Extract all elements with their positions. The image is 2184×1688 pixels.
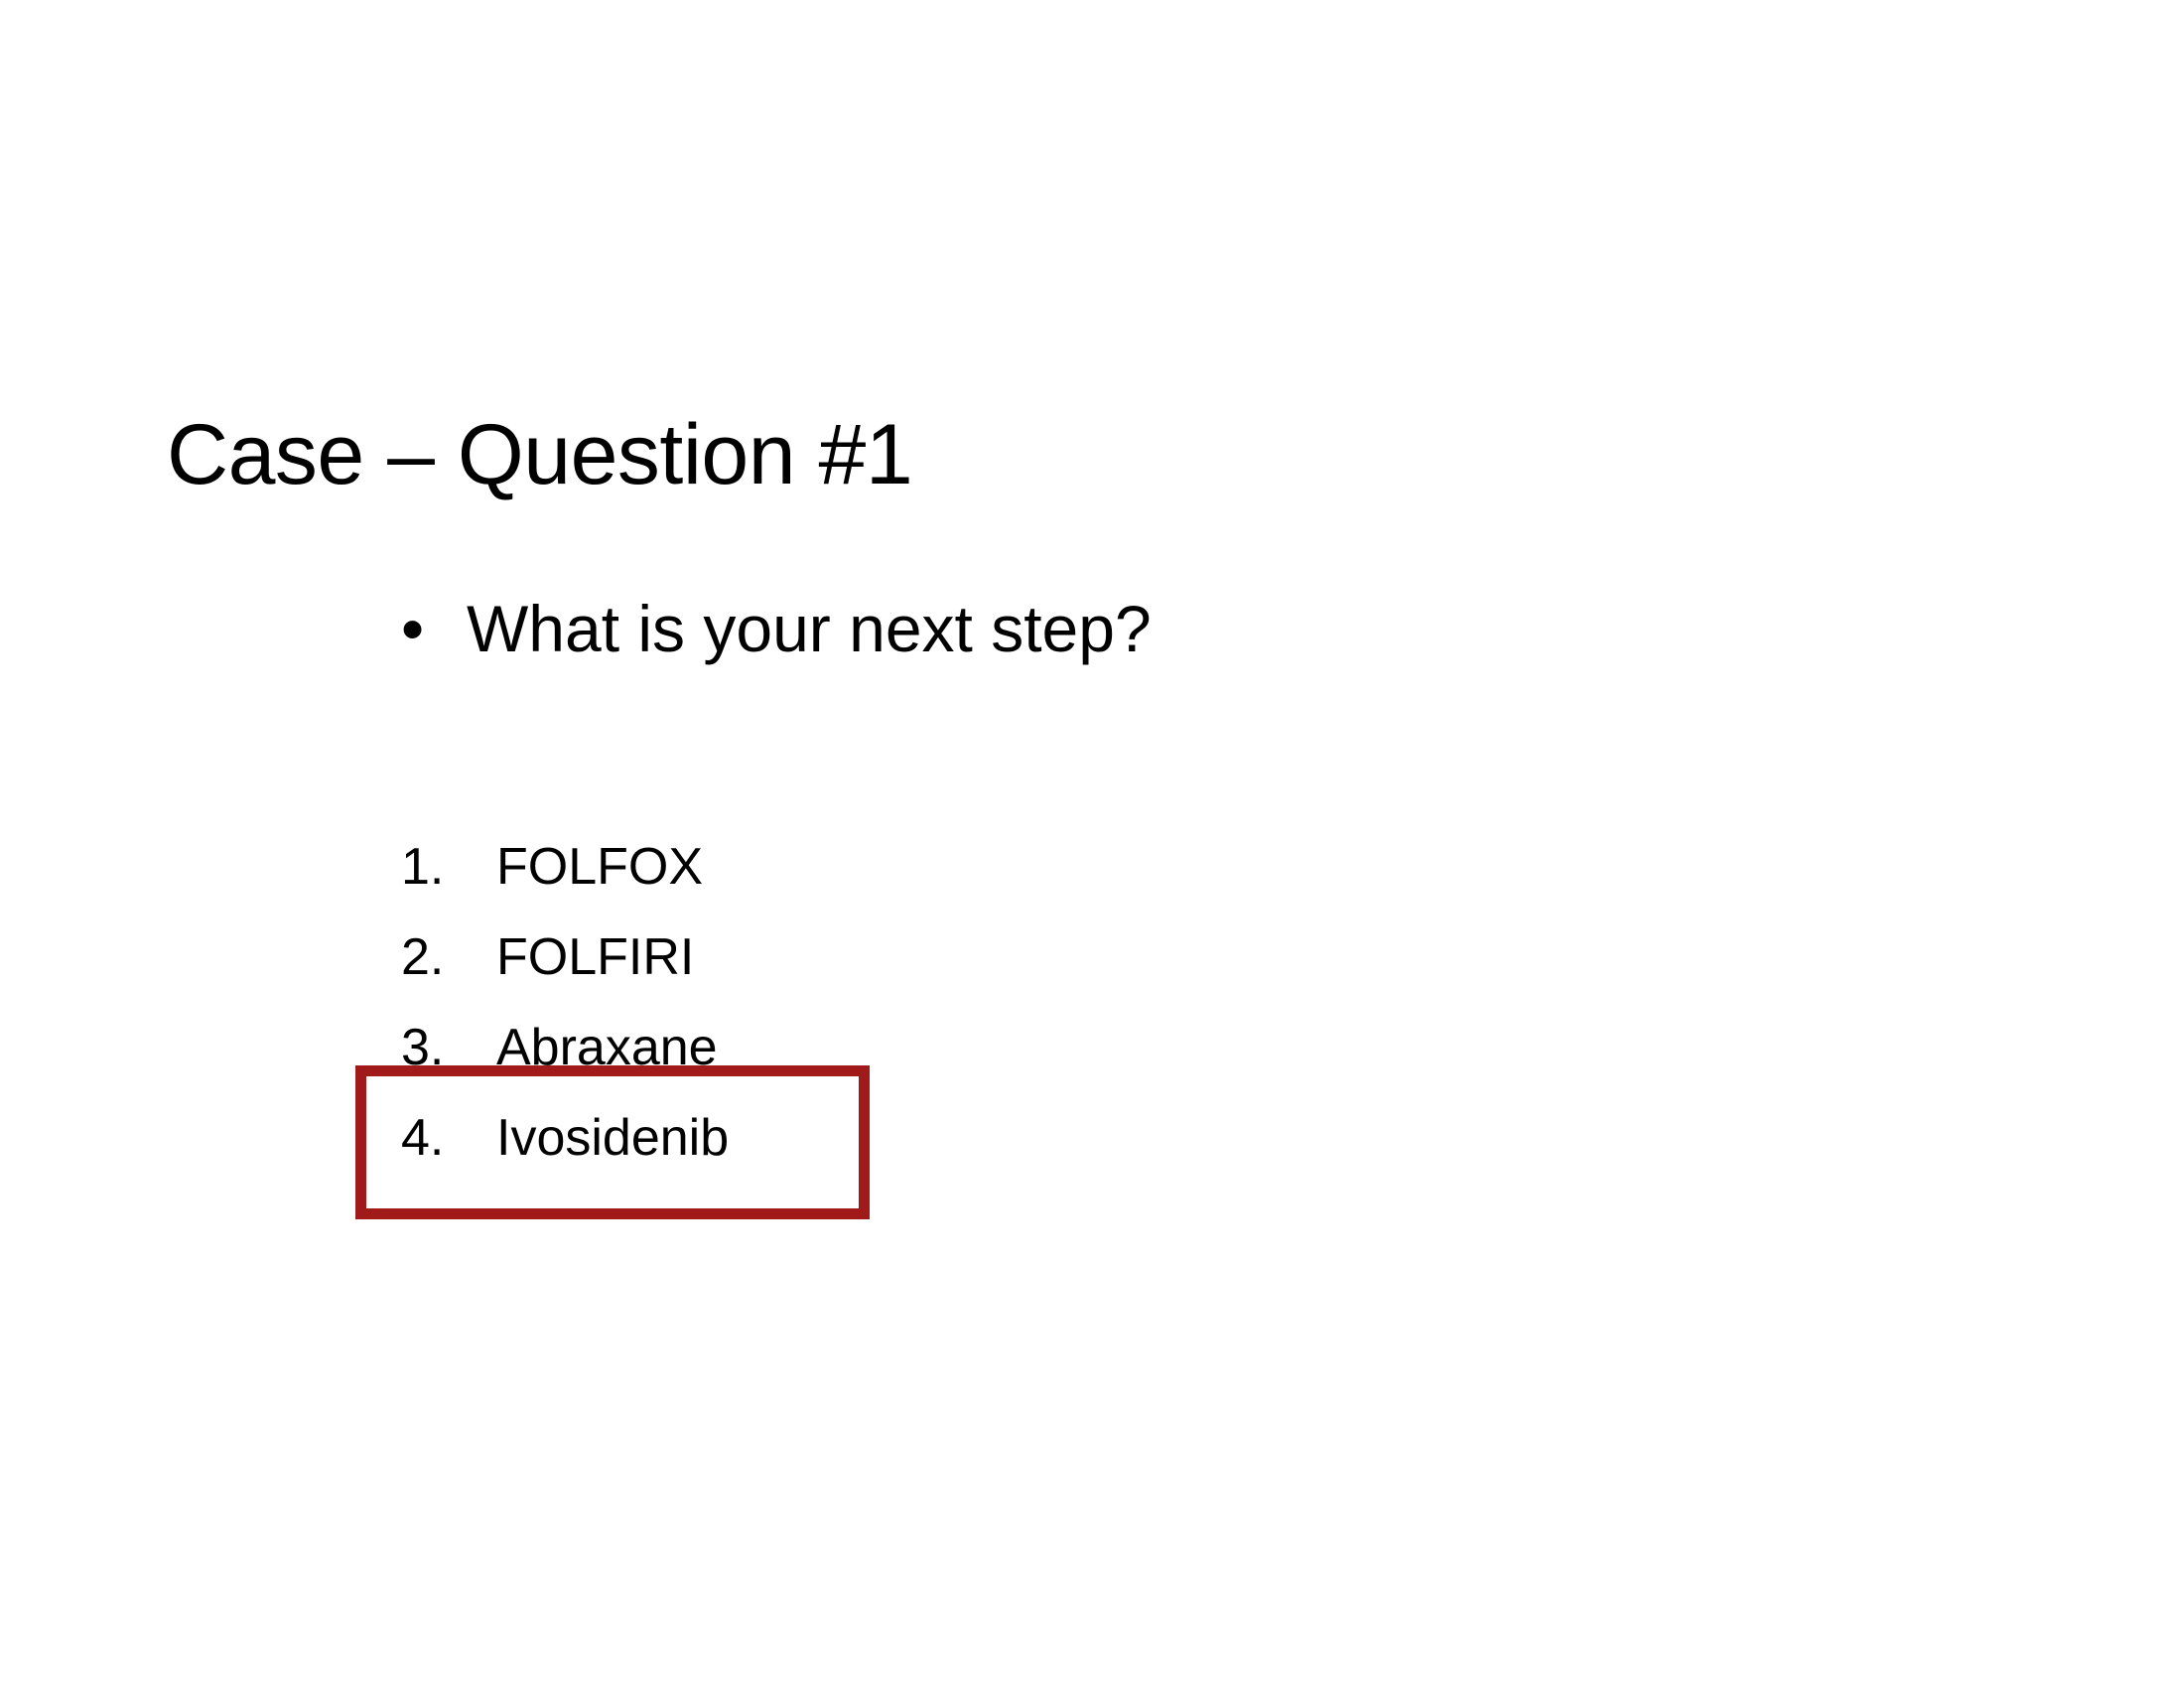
list-item-label: FOLFOX bbox=[496, 822, 703, 913]
bullet-item: • What is your next step? bbox=[401, 596, 1152, 661]
list-item-number: 2. bbox=[401, 913, 496, 1003]
list-item-label: FOLFIRI bbox=[496, 913, 694, 1003]
bullet-point-icon: • bbox=[401, 596, 467, 661]
page-title: Case – Question #1 bbox=[167, 410, 912, 499]
bullet-item-label: What is your next step? bbox=[467, 596, 1152, 661]
list-item-label: Ivosidenib bbox=[496, 1093, 729, 1184]
list-item-number: 3. bbox=[401, 1003, 496, 1093]
list-item[interactable]: 3. Abraxane bbox=[401, 1003, 1096, 1093]
list-item[interactable]: 4. Ivosidenib bbox=[401, 1093, 1096, 1184]
presentation-slide: Case – Question #1 • What is your next s… bbox=[0, 0, 2184, 1688]
list-item-number: 1. bbox=[401, 822, 496, 913]
list-item[interactable]: 2. FOLFIRI bbox=[401, 913, 1096, 1003]
list-item[interactable]: 1. FOLFOX bbox=[401, 822, 1096, 913]
list-item-number: 4. bbox=[401, 1093, 496, 1184]
list-item-label: Abraxane bbox=[496, 1003, 718, 1093]
answer-options-list: 1. FOLFOX 2. FOLFIRI 3. Abraxane 4. Ivos… bbox=[401, 822, 1096, 1184]
